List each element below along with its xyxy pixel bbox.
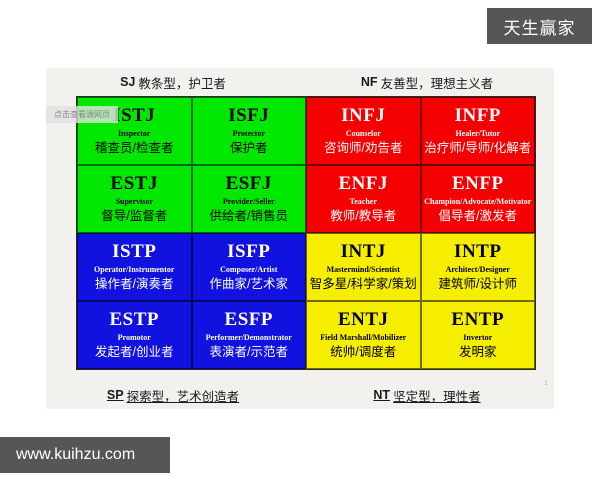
mbti-role-chinese: 供给者/销售员 bbox=[210, 209, 288, 224]
group-label-nt: NT 坚定型，理性者 bbox=[300, 381, 554, 409]
mbti-cell-infp[interactable]: INFPHealer/Tutor治疗师/导师/化解者 bbox=[421, 97, 536, 165]
mbti-role-chinese: 保护者 bbox=[230, 141, 268, 156]
mbti-type-code: ENTP bbox=[451, 310, 504, 330]
mbti-cell-enfp[interactable]: ENFPChampion/Advocate/Motivator倡导者/激发者 bbox=[421, 165, 536, 233]
mbti-cell-esfj[interactable]: ESFJProvider/Seller供给者/销售员 bbox=[192, 165, 307, 233]
mbti-type-code: ESFP bbox=[225, 310, 273, 330]
mbti-type-code: INFJ bbox=[341, 106, 385, 126]
mbti-role-english: Composer/Artist bbox=[220, 265, 277, 275]
mbti-cell-intp[interactable]: INTPArchitect/Designer建筑师/设计师 bbox=[421, 233, 536, 301]
group-desc-nt: 坚定型，理性者 bbox=[393, 386, 481, 405]
header-group-labels: SJ 教条型，护卫者 NF 友善型，理想主义者 bbox=[46, 68, 554, 96]
mbti-role-english: Champion/Advocate/Motivator bbox=[424, 197, 531, 207]
group-code-sj: SJ bbox=[120, 75, 135, 89]
mbti-type-code: ESTJ bbox=[111, 174, 158, 194]
group-label-sj: SJ 教条型，护卫者 bbox=[46, 68, 300, 96]
mbti-type-code: ENFP bbox=[452, 174, 504, 194]
mbti-role-chinese: 治疗师/导师/化解者 bbox=[424, 141, 531, 156]
mbti-cell-entj[interactable]: ENTJField Marshall/Mobilizer统帅/调度者 bbox=[306, 301, 421, 369]
mbti-cell-istj[interactable]: ISTJInspector稽查员/检查者 bbox=[77, 97, 192, 165]
mbti-role-english: Protector bbox=[233, 129, 265, 139]
mbti-role-chinese: 建筑师/设计师 bbox=[439, 277, 517, 292]
group-desc-sj: 教条型，护卫者 bbox=[138, 73, 226, 92]
mbti-type-code: ESTP bbox=[109, 310, 159, 330]
mbti-role-english: Architect/Designer bbox=[446, 265, 510, 275]
mbti-cell-entp[interactable]: ENTPInvertor发明家 bbox=[421, 301, 536, 369]
mbti-role-chinese: 督导/监督者 bbox=[101, 209, 167, 224]
mbti-role-english: Performer/Demonstrator bbox=[206, 333, 292, 343]
mbti-role-chinese: 操作者/演奏者 bbox=[95, 277, 173, 292]
mbti-role-chinese: 倡导者/激发者 bbox=[439, 209, 517, 224]
mbti-type-code: INFP bbox=[455, 106, 501, 126]
mbti-type-code: ESFJ bbox=[226, 174, 272, 194]
mbti-role-english: Invertor bbox=[463, 333, 492, 343]
mbti-cell-intj[interactable]: INTJMastermind/Scientist智多星/科学家/策划 bbox=[306, 233, 421, 301]
top-right-badge: 天生赢家 bbox=[487, 8, 592, 44]
group-code-sp: SP bbox=[107, 388, 124, 402]
page-number: 1 bbox=[544, 380, 548, 387]
group-label-nf: NF 友善型，理想主义者 bbox=[300, 68, 554, 96]
mbti-type-code: INTP bbox=[454, 242, 501, 262]
mbti-role-english: Counselor bbox=[346, 129, 381, 139]
mbti-type-code: ISTJ bbox=[113, 106, 155, 126]
mbti-role-chinese: 智多星/科学家/策划 bbox=[310, 277, 417, 292]
mbti-cell-estj[interactable]: ESTJSupervisor督导/监督者 bbox=[77, 165, 192, 233]
mbti-slide: SJ 教条型，护卫者 NF 友善型，理想主义者 ISTJInspector稽查员… bbox=[46, 68, 554, 409]
mbti-role-chinese: 统帅/调度者 bbox=[330, 345, 396, 360]
mbti-type-code: ISFP bbox=[227, 242, 270, 262]
mbti-role-english: Field Marshall/Mobilizer bbox=[320, 333, 406, 343]
mbti-type-code: INTJ bbox=[341, 242, 386, 262]
mbti-type-code: ISFJ bbox=[228, 106, 269, 126]
mbti-cell-isfp[interactable]: ISFPComposer/Artist作曲家/艺术家 bbox=[192, 233, 307, 301]
mbti-role-english: Promotor bbox=[118, 333, 151, 343]
mbti-role-chinese: 咨询师/劝告者 bbox=[324, 141, 402, 156]
mbti-cell-isfj[interactable]: ISFJProtector保护者 bbox=[192, 97, 307, 165]
mbti-cell-infj[interactable]: INFJCounselor咨询师/劝告者 bbox=[306, 97, 421, 165]
mbti-role-chinese: 作曲家/艺术家 bbox=[210, 277, 288, 292]
mbti-cell-istp[interactable]: ISTPOperator/Instrumentor操作者/演奏者 bbox=[77, 233, 192, 301]
group-desc-nf: 友善型，理想主义者 bbox=[381, 73, 494, 92]
mbti-type-code: ISTP bbox=[112, 242, 156, 262]
site-watermark: www.kuihzu.com bbox=[0, 437, 170, 473]
mbti-role-english: Provider/Seller bbox=[223, 197, 275, 207]
mbti-type-code: ENTJ bbox=[338, 310, 389, 330]
group-code-nt: NT bbox=[373, 388, 390, 402]
mbti-role-english: Inspector bbox=[118, 129, 150, 139]
mbti-cell-enfj[interactable]: ENFJTeacher教师/教导者 bbox=[306, 165, 421, 233]
group-desc-sp: 探索型，艺术创造者 bbox=[127, 386, 240, 405]
group-code-nf: NF bbox=[361, 75, 378, 89]
mbti-type-code: ENFJ bbox=[339, 174, 389, 194]
group-label-sp: SP 探索型，艺术创造者 bbox=[46, 381, 300, 409]
mbti-role-chinese: 表演者/示范者 bbox=[210, 345, 288, 360]
footer-group-labels: SP 探索型，艺术创造者 NT 坚定型，理性者 bbox=[46, 381, 554, 409]
mbti-role-english: Operator/Instrumentor bbox=[94, 265, 174, 275]
mbti-role-english: Teacher bbox=[350, 197, 377, 207]
mbti-type-grid: ISTJInspector稽查员/检查者ISFJProtector保护者INFJ… bbox=[76, 96, 536, 370]
mbti-role-chinese: 教师/教导者 bbox=[330, 209, 396, 224]
mbti-cell-estp[interactable]: ESTPPromotor发起者/创业者 bbox=[77, 301, 192, 369]
mbti-role-english: Healer/Tutor bbox=[455, 129, 500, 139]
mbti-role-english: Mastermind/Scientist bbox=[327, 265, 400, 275]
mbti-role-chinese: 发明家 bbox=[459, 345, 497, 360]
mbti-role-chinese: 稽查员/检查者 bbox=[95, 141, 173, 156]
mbti-role-english: Supervisor bbox=[116, 197, 153, 207]
mbti-cell-esfp[interactable]: ESFPPerformer/Demonstrator表演者/示范者 bbox=[192, 301, 307, 369]
mbti-role-chinese: 发起者/创业者 bbox=[95, 345, 173, 360]
